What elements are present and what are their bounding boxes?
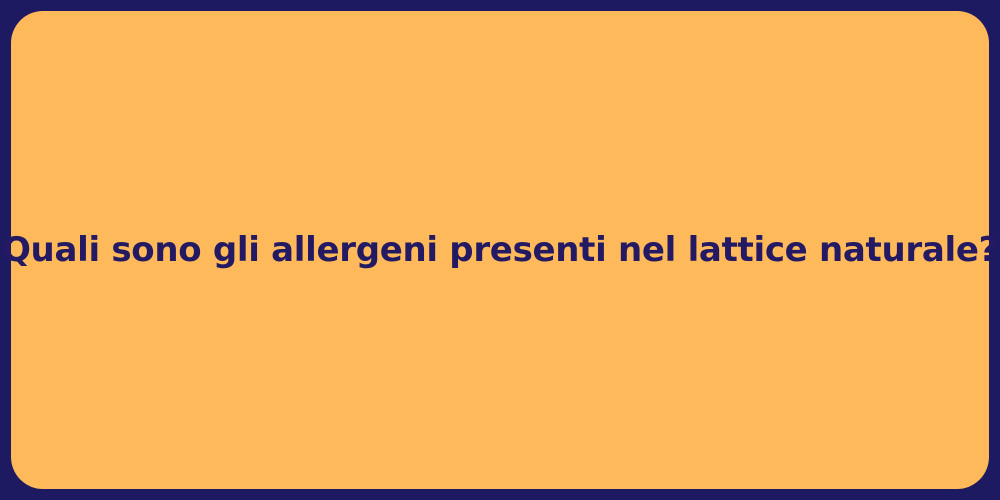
page-canvas: Quali sono gli allergeni presenti nel la… bbox=[0, 0, 1000, 500]
page-title: Quali sono gli allergeni presenti nel la… bbox=[2, 228, 998, 272]
question-card: Quali sono gli allergeni presenti nel la… bbox=[11, 11, 989, 489]
